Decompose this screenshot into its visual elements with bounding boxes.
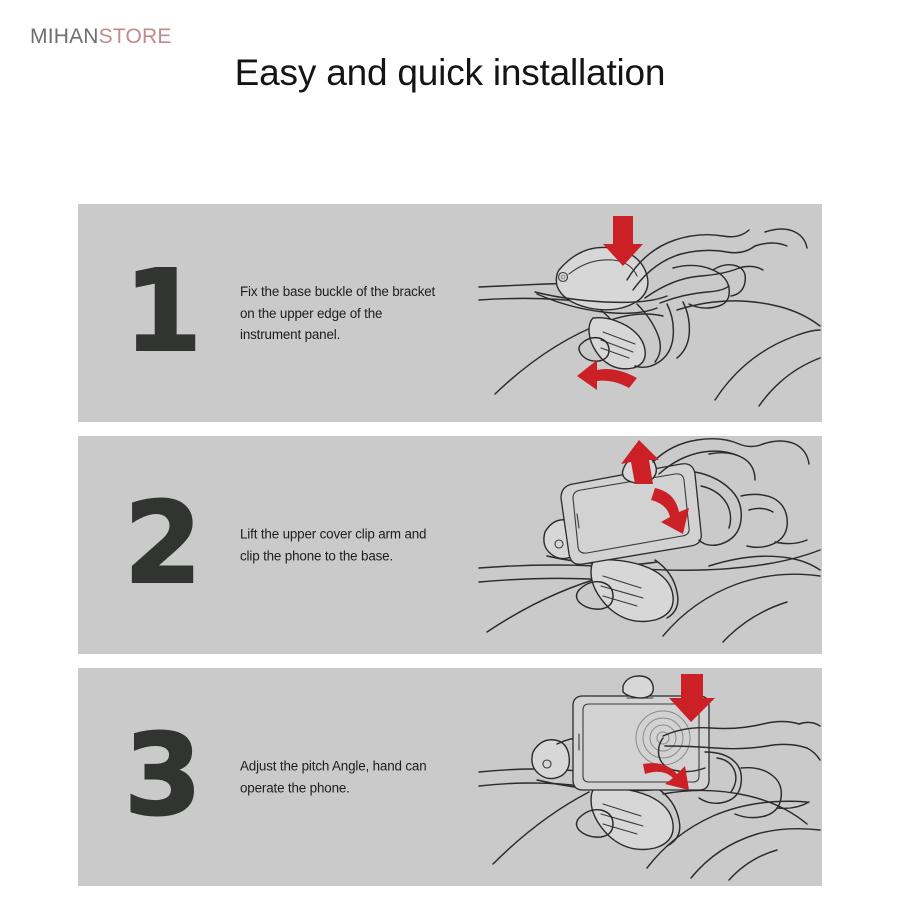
brand-logo: MIHANSTORE: [30, 26, 172, 47]
brand-logo-primary: MIHAN: [30, 25, 99, 48]
step-number: 1: [124, 267, 200, 359]
step-panel: 1 Fix the base buckle of the bracket on …: [78, 204, 822, 422]
step-number: 2: [124, 499, 200, 591]
step-description: Adjust the pitch Angle, hand can operate…: [240, 756, 440, 799]
step-description: Fix the base buckle of the bracket on th…: [240, 281, 440, 346]
step-panel: 2 Lift the upper cover clip arm and clip…: [78, 436, 822, 654]
step-description: Lift the upper cover clip arm and clip t…: [240, 524, 440, 567]
page-title: Easy and quick installation: [0, 52, 900, 95]
step-number: 3: [124, 731, 200, 823]
step-illustration-hand-lifting-clip-arm-with-phone: [477, 436, 822, 654]
brand-logo-secondary: STORE: [99, 25, 172, 48]
installation-steps-list: 1 Fix the base buckle of the bracket on …: [78, 204, 822, 886]
step-illustration-finger-touching-phone-screen-on-mount: [477, 668, 822, 886]
step-illustration-hand-pressing-bracket-onto-dashboard-edge: [477, 204, 822, 422]
step-panel: 3 Adjust the pitch Angle, hand can opera…: [78, 668, 822, 886]
